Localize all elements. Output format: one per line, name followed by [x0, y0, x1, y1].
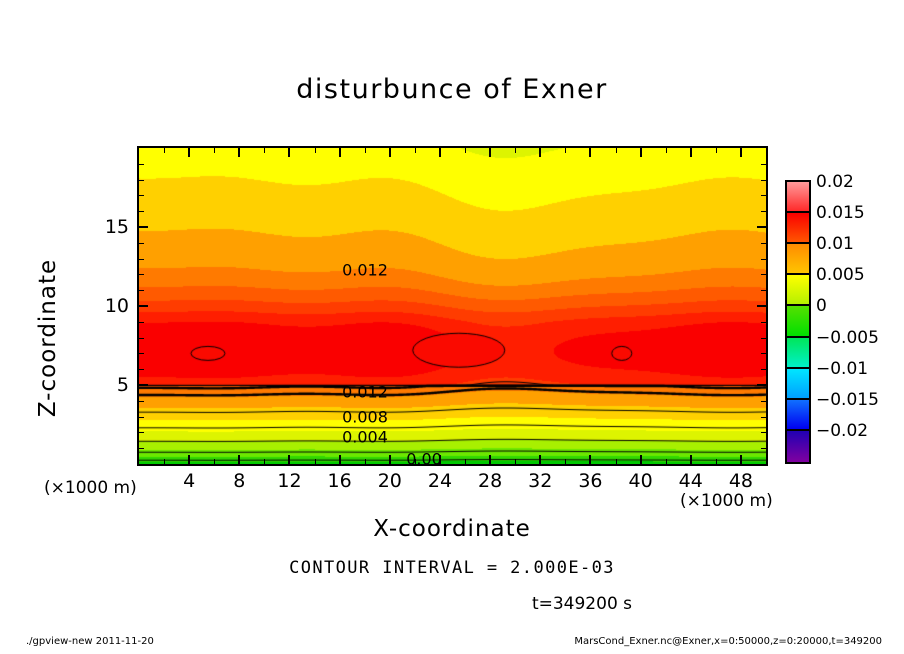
- contour-line-label: 0.012: [342, 383, 388, 402]
- x-axis-title: X-coordinate: [0, 516, 904, 542]
- x-axis-tick-top: [666, 148, 667, 153]
- y-axis-tick: [139, 259, 144, 260]
- y-axis-tick-right: [761, 195, 766, 196]
- x-axis-tick-top: [589, 148, 591, 157]
- y-axis-tick: [139, 290, 144, 291]
- y-axis-tick: [139, 243, 144, 244]
- x-axis-tick: [365, 459, 366, 464]
- y-axis-tick: [139, 448, 144, 449]
- x-axis-tick-top: [365, 148, 366, 153]
- x-axis-tick: [616, 459, 617, 464]
- x-axis-tick-top: [690, 148, 692, 157]
- footer-left-text: ./gpview-new 2011-11-20: [26, 636, 154, 647]
- x-axis-tick: [690, 455, 692, 464]
- colorbar-tick-label: −0.02: [816, 421, 868, 441]
- x-axis-tick: [238, 455, 240, 464]
- y-axis-tick-right: [761, 353, 766, 354]
- x-axis-tick-top: [264, 148, 265, 153]
- x-axis-tick-label: 4: [183, 470, 195, 492]
- y-axis-tick-right: [761, 322, 766, 323]
- colorbar-segment: [787, 244, 809, 275]
- y-axis-tick-label: 15: [89, 216, 129, 238]
- x-axis-tick-top: [616, 148, 617, 153]
- x-axis-tick-top: [339, 148, 341, 157]
- x-axis-tick-top: [439, 148, 441, 157]
- x-axis-tick-top: [716, 148, 717, 153]
- y-axis-tick: [139, 417, 144, 418]
- y-axis-tick: [139, 180, 144, 181]
- y-axis-tick: [139, 338, 144, 339]
- x-axis-tick: [666, 459, 667, 464]
- x-axis-tick: [565, 459, 566, 464]
- y-axis-tick: [139, 305, 148, 307]
- x-axis-tick: [539, 455, 541, 464]
- colorbar-segment: [787, 369, 809, 400]
- x-axis-tick: [515, 459, 516, 464]
- colorbar-tick-label: 0: [816, 296, 827, 316]
- y-axis-tick-right: [761, 448, 766, 449]
- y-axis-tick-right: [761, 274, 766, 275]
- z-axis-unit-label: (×1000 m): [44, 478, 137, 498]
- x-axis-tick-label: 12: [277, 470, 301, 492]
- y-axis-tick-label: 5: [89, 374, 129, 396]
- x-axis-tick: [214, 459, 215, 464]
- y-axis-tick-right: [761, 243, 766, 244]
- x-axis-tick-top: [389, 148, 391, 157]
- contour-interval-note: CONTOUR INTERVAL = 2.000E-03: [0, 558, 904, 578]
- y-axis-tick: [139, 322, 144, 323]
- x-axis-tick-top: [214, 148, 215, 153]
- x-axis-tick-top: [565, 148, 566, 153]
- x-axis-tick: [315, 459, 316, 464]
- x-axis-tick-label: 24: [428, 470, 452, 492]
- x-axis-tick-top: [188, 148, 190, 157]
- y-axis-tick-right: [761, 164, 766, 165]
- y-axis-tick: [139, 226, 148, 228]
- time-annotation: t=349200 s: [0, 594, 904, 614]
- y-axis-tick-right: [761, 417, 766, 418]
- colorbar-segment: [787, 306, 809, 337]
- x-axis-tick: [264, 459, 265, 464]
- x-axis-tick-top: [489, 148, 491, 157]
- footer-right-text: MarsCond_Exner.nc@Exner,x=0:50000,z=0:20…: [574, 636, 882, 647]
- y-axis-tick-right: [757, 384, 766, 386]
- colorbar-tick-label: −0.01: [816, 359, 868, 379]
- x-axis-tick: [740, 455, 742, 464]
- x-axis-tick: [415, 459, 416, 464]
- x-axis-tick-top: [640, 148, 642, 157]
- x-axis-tick-top: [539, 148, 541, 157]
- x-axis-tick: [439, 455, 441, 464]
- x-axis-tick-label: 40: [629, 470, 653, 492]
- x-axis-tick-top: [740, 148, 742, 157]
- x-axis-tick-top: [164, 148, 165, 153]
- contour-plot-canvas: [139, 148, 766, 464]
- y-axis-tick: [139, 401, 144, 402]
- y-axis-tick: [139, 384, 148, 386]
- colorbar-segment: [787, 213, 809, 244]
- x-axis-unit-label: (×1000 m): [680, 491, 773, 511]
- contour-line-label: 0.012: [342, 261, 388, 280]
- plot-area: [137, 146, 768, 466]
- colorbar-tick-label: 0.005: [816, 265, 865, 285]
- y-axis-tick: [139, 432, 144, 433]
- x-axis-tick-label: 32: [528, 470, 552, 492]
- contour-line-label: 0.008: [342, 408, 388, 427]
- colorbar-segment: [787, 182, 809, 213]
- colorbar-tick-label: 0.01: [816, 234, 854, 254]
- x-axis-tick: [339, 455, 341, 464]
- y-axis-tick: [139, 195, 144, 196]
- y-axis-tick-right: [761, 432, 766, 433]
- colorbar-segment: [787, 275, 809, 306]
- colorbar-segment: [787, 431, 809, 462]
- x-axis-tick-top: [465, 148, 466, 153]
- colorbar-tick-label: 0.015: [816, 203, 865, 223]
- x-axis-tick: [589, 455, 591, 464]
- x-axis-tick: [640, 455, 642, 464]
- x-axis-tick-label: 36: [578, 470, 602, 492]
- x-axis-tick-top: [238, 148, 240, 157]
- x-axis-tick-label: 44: [679, 470, 703, 492]
- colorbar-tick-label: −0.005: [816, 328, 879, 348]
- page-title: disturbunce of Exner: [0, 74, 904, 105]
- x-axis-tick-label: 20: [378, 470, 402, 492]
- x-axis-tick: [288, 455, 290, 464]
- y-axis-tick-right: [761, 290, 766, 291]
- y-axis-tick-right: [761, 180, 766, 181]
- y-axis-tick-right: [761, 401, 766, 402]
- y-axis-tick-right: [761, 338, 766, 339]
- x-axis-tick-top: [515, 148, 516, 153]
- y-axis-tick-right: [761, 259, 766, 260]
- y-axis-title: Z-coordinate: [35, 228, 61, 448]
- x-axis-tick-label: 48: [729, 470, 753, 492]
- y-axis-tick: [139, 164, 144, 165]
- x-axis-tick-label: 28: [478, 470, 502, 492]
- x-axis-tick: [716, 459, 717, 464]
- colorbar-segment: [787, 400, 809, 431]
- x-axis-tick-label: 16: [328, 470, 352, 492]
- x-axis-tick: [465, 459, 466, 464]
- x-axis-tick: [188, 455, 190, 464]
- y-axis-tick-right: [761, 211, 766, 212]
- y-axis-tick-right: [761, 369, 766, 370]
- y-axis-tick-right: [757, 226, 766, 228]
- x-axis-tick-top: [315, 148, 316, 153]
- contour-line-label: 0.00: [406, 450, 442, 469]
- colorbar-tick-label: −0.015: [816, 390, 879, 410]
- colorbar-segment: [787, 338, 809, 369]
- x-axis-tick-top: [288, 148, 290, 157]
- y-axis-tick-right: [757, 305, 766, 307]
- colorbar: [785, 180, 811, 464]
- y-axis-tick-label: 10: [89, 295, 129, 317]
- contour-line-label: 0.004: [342, 428, 388, 447]
- y-axis-tick: [139, 211, 144, 212]
- y-axis-tick: [139, 369, 144, 370]
- y-axis-tick: [139, 274, 144, 275]
- y-axis-tick: [139, 353, 144, 354]
- x-axis-tick: [164, 459, 165, 464]
- x-axis-tick: [389, 455, 391, 464]
- x-axis-tick-top: [415, 148, 416, 153]
- x-axis-tick-label: 8: [233, 470, 245, 492]
- colorbar-tick-label: 0.02: [816, 172, 854, 192]
- x-axis-tick: [489, 455, 491, 464]
